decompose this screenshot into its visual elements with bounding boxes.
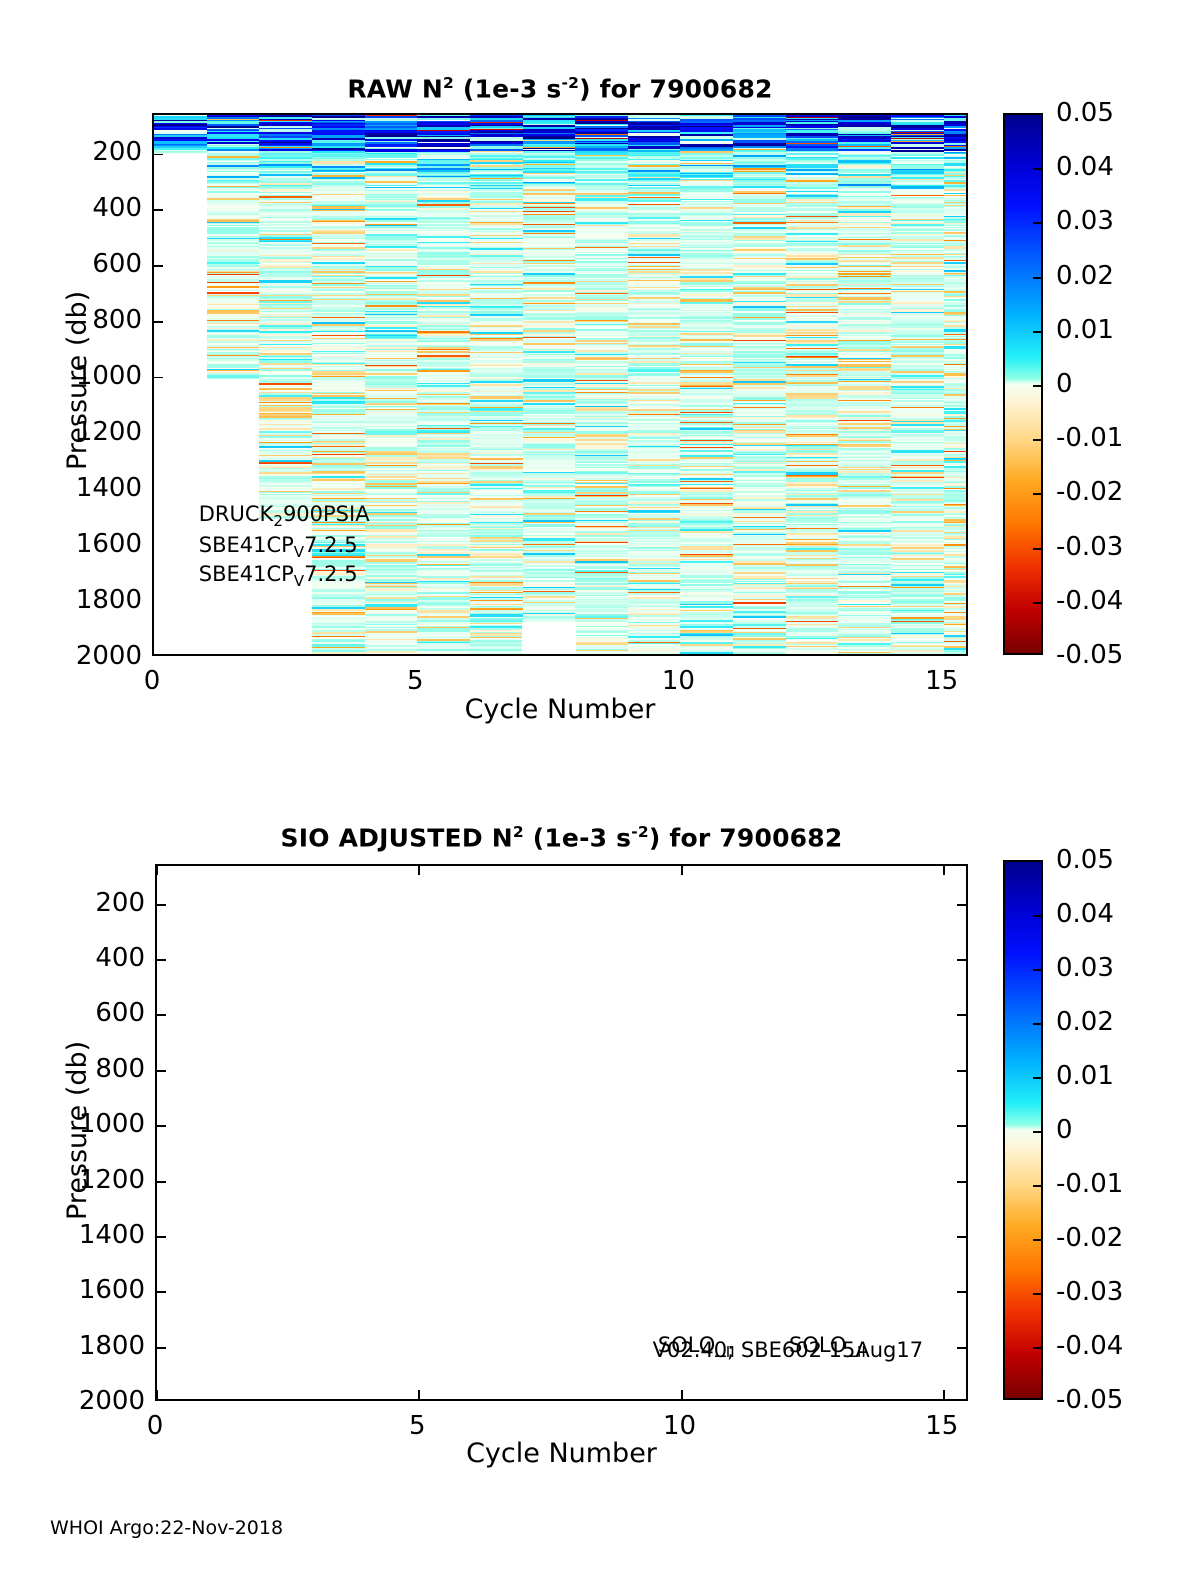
raw-title-suffix: ) for 7900682 xyxy=(579,74,773,103)
heatmap-cell xyxy=(838,654,891,656)
heatmap-cell xyxy=(207,378,260,379)
heatmap-column xyxy=(575,115,628,654)
raw-title-mid: (1e-3 s xyxy=(454,74,561,103)
heatmap-cell xyxy=(417,653,470,655)
raw-axes-frame: DRUCK2900PSIASBE41CPV7.2.5SBE41CPV7.2.5 xyxy=(152,113,968,656)
heatmap-column xyxy=(470,115,523,654)
raw-title-prefix: RAW N xyxy=(347,74,443,103)
heatmap-cell xyxy=(733,655,786,656)
heatmap-cell xyxy=(365,654,418,656)
heatmap-cell xyxy=(575,654,628,655)
heatmap-column xyxy=(523,115,576,654)
raw-plot-title: RAW N2 (1e-3 s-2) for 7900682 xyxy=(152,74,968,103)
heatmap-cell xyxy=(575,655,628,656)
heatmap-cell xyxy=(417,655,470,656)
heatmap-cell xyxy=(786,655,839,656)
heatmap-column xyxy=(365,115,418,654)
heatmap-cell xyxy=(786,654,839,655)
heatmap-cell xyxy=(628,654,681,656)
heatmap-column xyxy=(786,115,839,654)
heatmap-cell xyxy=(733,654,786,655)
raw-title-exponent2: -2 xyxy=(561,74,579,92)
heatmap-column xyxy=(838,115,891,654)
heatmap-cell xyxy=(154,153,207,154)
raw-title-exponent: 2 xyxy=(443,74,454,92)
heatmap-column xyxy=(417,115,470,654)
heatmap-column xyxy=(680,115,733,654)
heatmap-column xyxy=(733,115,786,654)
heatmap-column xyxy=(891,115,944,654)
heatmap-cell xyxy=(470,655,523,656)
heatmap-cell xyxy=(312,654,365,655)
heatmap-cell xyxy=(312,655,365,656)
heatmap-column xyxy=(628,115,681,654)
heatmap-cell xyxy=(680,654,733,656)
